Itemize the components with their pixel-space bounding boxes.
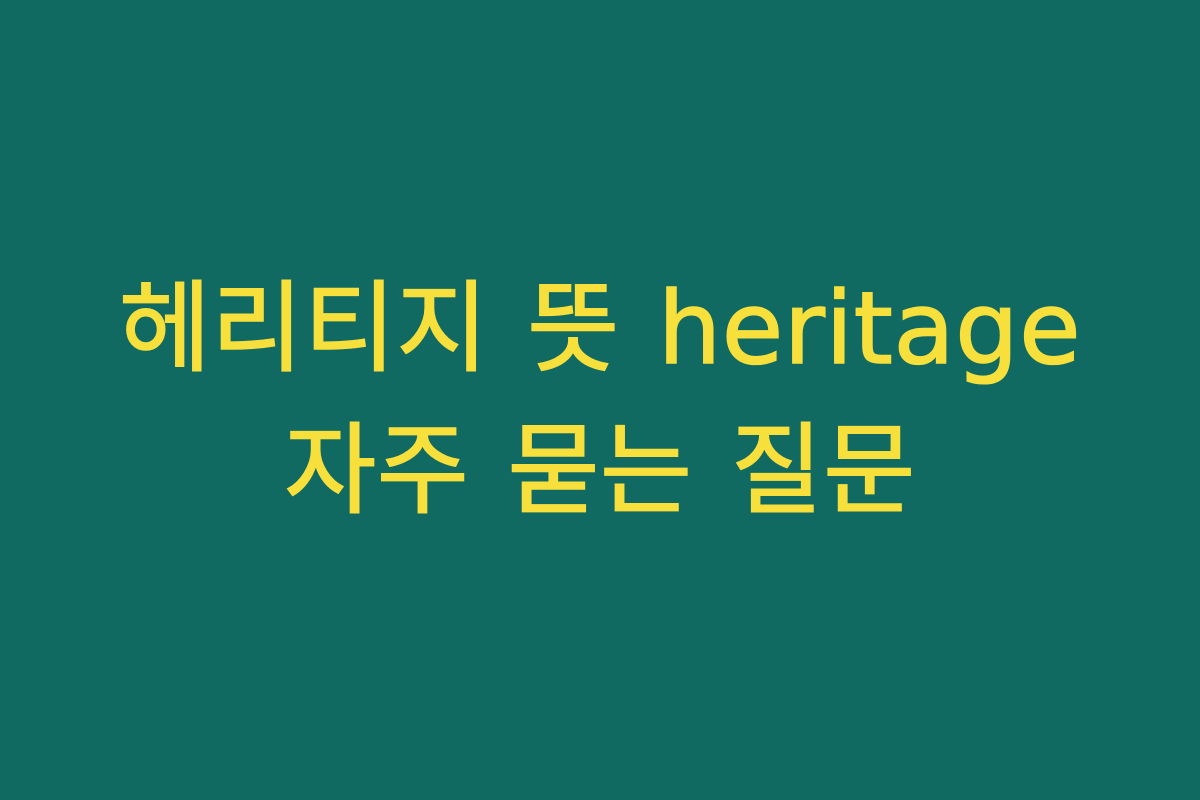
page-title: 헤리티지 뜻 heritage 자주 묻는 질문 bbox=[60, 258, 1140, 542]
banner-canvas: 헤리티지 뜻 heritage 자주 묻는 질문 bbox=[0, 0, 1200, 800]
headline-block: 헤리티지 뜻 heritage 자주 묻는 질문 bbox=[40, 258, 1160, 542]
